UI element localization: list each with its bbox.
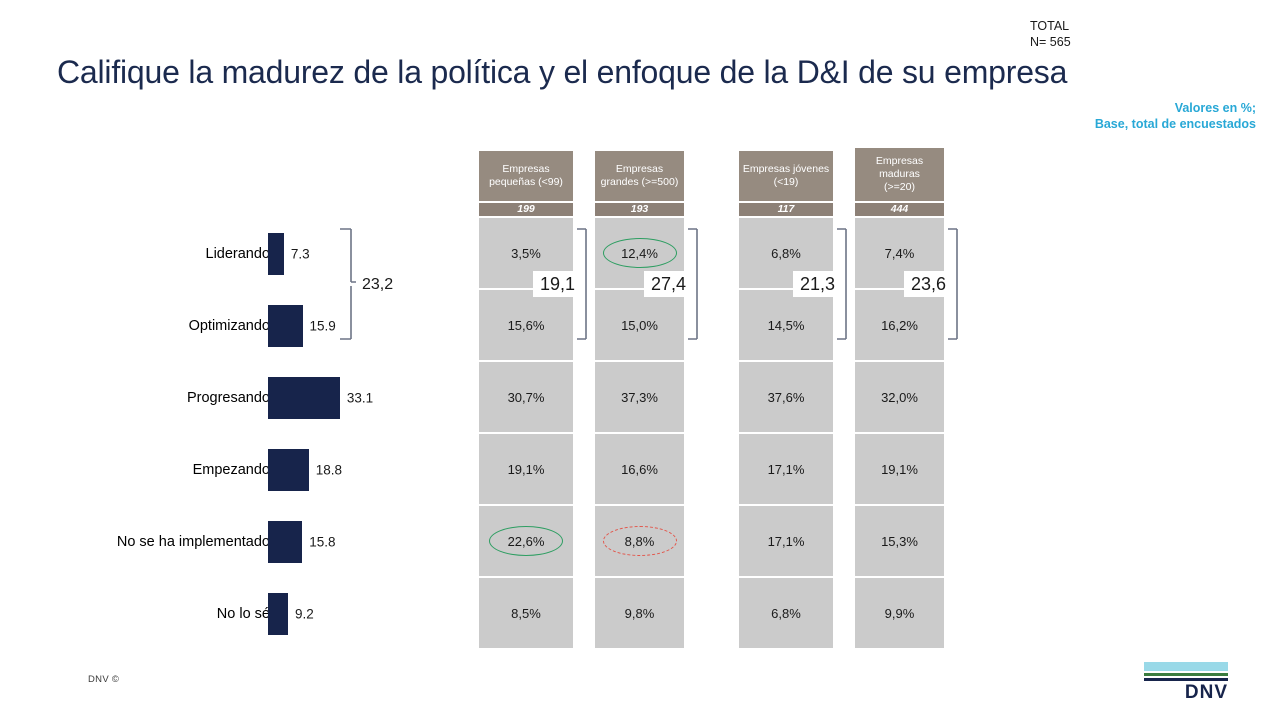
bar-row: No se ha implementado15.8 — [0, 506, 470, 578]
bar-value-label: 15.8 — [309, 535, 335, 550]
matrix-cell: 9,8% — [595, 578, 684, 648]
bar-category-label: No se ha implementado — [117, 534, 270, 550]
bar-row: Progresando33.1 — [0, 362, 470, 434]
matrix-cell: 32,0% — [855, 362, 944, 432]
matrix-cell-value: 3,5% — [511, 246, 541, 261]
matrix-cell: 17,1% — [739, 434, 833, 504]
matrix-cell: 16,2% — [855, 290, 944, 360]
matrix-column-empresas-pequenas: Empresaspequeñas (<99)199 — [479, 148, 573, 216]
dnv-logo: DNV — [1144, 662, 1228, 704]
column-header-line: Empresas — [876, 155, 923, 168]
matrix-cell: 15,6% — [479, 290, 573, 360]
column-header-line: grandes (>=500) — [601, 176, 679, 189]
column-base-n: 444 — [855, 203, 944, 216]
page-title: Califique la madurez de la política y el… — [57, 52, 1117, 92]
values-note-line2: Base, total de encuestados — [926, 116, 1256, 132]
bar-value-label: 18.8 — [316, 463, 342, 478]
matrix-column-empresas-grandes: Empresasgrandes (>=500)193 — [595, 148, 684, 216]
matrix-cell: 15,0% — [595, 290, 684, 360]
matrix-cell: 19,1% — [855, 434, 944, 504]
column-header-line: Empresas — [601, 163, 679, 176]
column-bracket-callout: 27,4 — [644, 271, 693, 297]
column-header-line: (<19) — [743, 176, 829, 189]
bar-rect — [268, 521, 302, 563]
matrix-cell-value: 19,1% — [508, 462, 545, 477]
column-header: Empresas jóvenes(<19) — [739, 151, 833, 201]
matrix-cell-value: 8,8% — [625, 534, 655, 549]
bar-rect — [268, 233, 284, 275]
column-header-line: Empresas — [489, 163, 563, 176]
matrix-cell-value: 32,0% — [881, 390, 918, 405]
matrix-cell-value: 17,1% — [768, 534, 805, 549]
bar-row: Optimizando15.9 — [0, 290, 470, 362]
bar-row: No lo sé9.2 — [0, 578, 470, 650]
column-header: Empresasmaduras(>=20) — [855, 148, 944, 201]
bar-rect — [268, 305, 303, 347]
column-base-n: 199 — [479, 203, 573, 216]
total-bar-chart: Liderando7.3Optimizando15.9Progresando33… — [0, 218, 470, 658]
total-label: TOTAL — [1030, 18, 1150, 34]
matrix-cell: 17,1% — [739, 506, 833, 576]
matrix-cell: 16,6% — [595, 434, 684, 504]
column-base-n: 117 — [739, 203, 833, 216]
logo-bar-navy — [1144, 678, 1228, 681]
values-note: Valores en %; Base, total de encuestados — [926, 100, 1256, 132]
matrix-cell: 19,1% — [479, 434, 573, 504]
matrix-cell-value: 22,6% — [508, 534, 545, 549]
matrix-cell: 8,5% — [479, 578, 573, 648]
column-header-line: pequeñas (<99) — [489, 176, 563, 189]
bar-category-label: Liderando — [206, 246, 271, 262]
matrix-cell: 30,7% — [479, 362, 573, 432]
slide-canvas: TOTAL N= 565 Califique la madurez de la … — [0, 0, 1280, 720]
column-header-line: (>=20) — [876, 181, 923, 194]
bar-category-label: Progresando — [187, 390, 270, 406]
matrix-cell-value: 6,8% — [771, 606, 801, 621]
logo-wordmark: DNV — [1144, 682, 1228, 704]
logo-bar-light — [1144, 662, 1228, 671]
matrix-cell-value: 9,9% — [885, 606, 915, 621]
column-base-n: 193 — [595, 203, 684, 216]
bar-rect — [268, 449, 309, 491]
matrix-cell-value: 6,8% — [771, 246, 801, 261]
column-bracket-callout: 21,3 — [793, 271, 842, 297]
matrix-cell-value: 9,8% — [625, 606, 655, 621]
column-header: Empresaspequeñas (<99) — [479, 151, 573, 201]
matrix-cell-value: 7,4% — [885, 246, 915, 261]
matrix-column-empresas-maduras: Empresasmaduras(>=20)444 — [855, 148, 944, 216]
bar-row: Empezando18.8 — [0, 434, 470, 506]
matrix-cell: 37,6% — [739, 362, 833, 432]
total-bracket-icon — [338, 228, 356, 340]
matrix-cell: 15,3% — [855, 506, 944, 576]
bar-rect — [268, 377, 340, 419]
matrix-cell-value: 14,5% — [768, 318, 805, 333]
bar-row: Liderando7.3 — [0, 218, 470, 290]
matrix-cell-value: 15,3% — [881, 534, 918, 549]
matrix-cell: 6,8% — [739, 578, 833, 648]
matrix-column-empresas-jovenes: Empresas jóvenes(<19)117 — [739, 148, 833, 216]
matrix-cell-value: 16,6% — [621, 462, 658, 477]
bar-category-label: No lo sé — [217, 606, 270, 622]
total-n-value: N= 565 — [1030, 34, 1150, 50]
matrix-cell-value: 16,2% — [881, 318, 918, 333]
column-header-line: maduras — [876, 168, 923, 181]
bar-value-label: 15.9 — [310, 319, 336, 334]
matrix-cell: 8,8% — [595, 506, 684, 576]
column-bracket-callout: 23,6 — [904, 271, 953, 297]
logo-bar-green — [1144, 673, 1228, 676]
footer-copyright: DNV © — [88, 674, 119, 685]
column-header: Empresasgrandes (>=500) — [595, 151, 684, 201]
matrix-cell-value: 15,0% — [621, 318, 658, 333]
total-bracket-value: 23,2 — [362, 276, 393, 294]
matrix-cell: 14,5% — [739, 290, 833, 360]
matrix-cell-value: 37,6% — [768, 390, 805, 405]
matrix-cell-value: 19,1% — [881, 462, 918, 477]
bar-value-label: 9.2 — [295, 607, 314, 622]
matrix-cell-value: 8,5% — [511, 606, 541, 621]
matrix-cell-value: 37,3% — [621, 390, 658, 405]
matrix-cell: 37,3% — [595, 362, 684, 432]
bar-value-label: 33.1 — [347, 391, 373, 406]
matrix-cell-value: 15,6% — [508, 318, 545, 333]
bar-rect — [268, 593, 288, 635]
column-header-line: Empresas jóvenes — [743, 163, 829, 176]
matrix-cell-value: 17,1% — [768, 462, 805, 477]
total-base-block: TOTAL N= 565 — [1030, 18, 1150, 50]
matrix-cell: 22,6% — [479, 506, 573, 576]
bar-category-label: Empezando — [193, 462, 270, 478]
values-note-line1: Valores en %; — [926, 100, 1256, 116]
bar-value-label: 7.3 — [291, 247, 310, 262]
matrix-cell: 9,9% — [855, 578, 944, 648]
bar-category-label: Optimizando — [189, 318, 270, 334]
matrix-cell-value: 30,7% — [508, 390, 545, 405]
matrix-cell-value: 12,4% — [621, 246, 658, 261]
column-bracket-callout: 19,1 — [533, 271, 582, 297]
